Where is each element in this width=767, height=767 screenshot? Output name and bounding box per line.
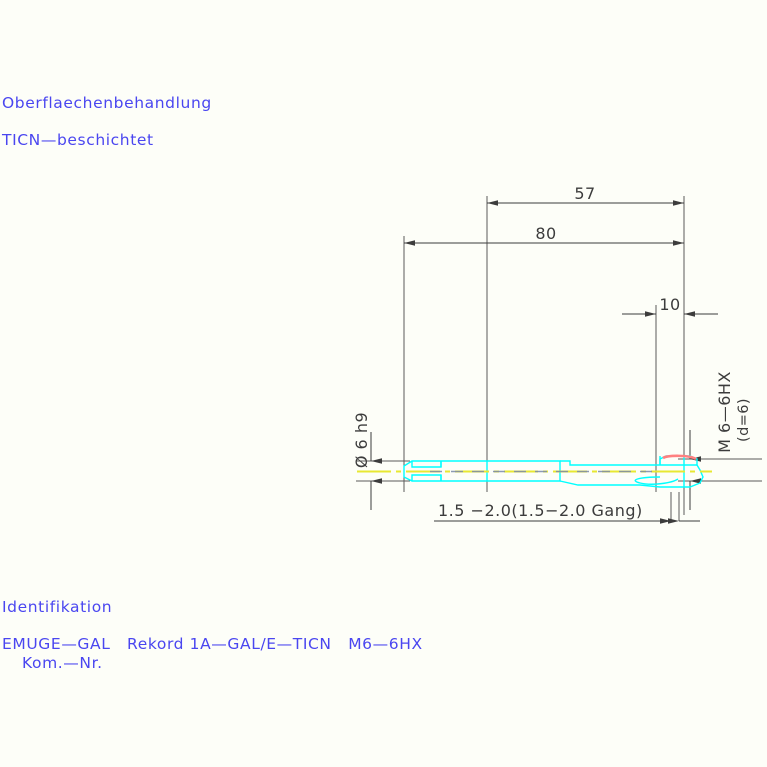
dimension-label-diameter: Ø 6 h9: [352, 412, 371, 468]
surface-treatment-value: TICN—beschichtet: [2, 131, 154, 149]
drawing-canvas: 57 80 10 Ø 6 h9 M 6—6HX (d=6) 1.5 −: [0, 0, 767, 767]
dimension-10: 10: [622, 295, 718, 314]
dimension-57: 57: [487, 184, 684, 203]
square-drive-lower: [412, 475, 441, 481]
dimension-label-80: 80: [535, 224, 556, 243]
neck-step-upper: [560, 461, 576, 465]
dimension-label-10: 10: [659, 295, 680, 314]
flute-relief: [635, 477, 678, 484]
dimension-label-57: 57: [574, 184, 595, 203]
dimension-80: 80: [404, 224, 684, 243]
identification-line-2: Kom.—Nr.: [22, 654, 103, 672]
dimension-label-thread-line2: (d=6): [736, 398, 752, 442]
square-drive-upper: [412, 461, 441, 467]
dimension-diameter: Ø 6 h9: [352, 412, 371, 510]
dimension-label-pitch: 1.5 −2.0(1.5−2.0 Gang): [438, 501, 643, 520]
identification-heading: Identifikation: [2, 598, 112, 616]
identification-line-1: EMUGE—GAL Rekord 1A—GAL/E—TICN M6—6HX: [2, 635, 423, 653]
dimension-pitch: 1.5 −2.0(1.5−2.0 Gang): [434, 501, 700, 521]
dimension-thread: M 6—6HX (d=6): [690, 371, 752, 510]
neck-step-lower: [560, 481, 640, 485]
dimension-label-thread-line1: M 6—6HX: [715, 371, 734, 453]
surface-treatment-heading: Oberflaechenbehandlung: [2, 94, 212, 112]
